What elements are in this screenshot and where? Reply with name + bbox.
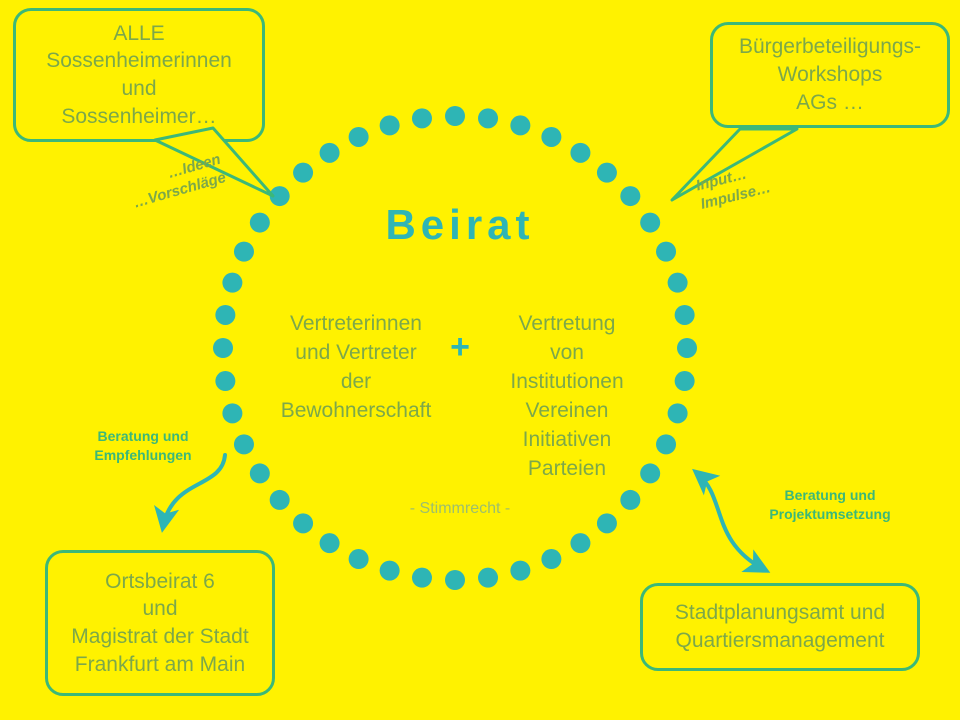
circle-dot: [250, 463, 270, 483]
page-title: Beirat: [330, 201, 590, 249]
circle-dot: [215, 371, 235, 391]
circle-dot: [293, 163, 313, 183]
circle-dot: [412, 568, 432, 588]
circle-dot: [478, 108, 498, 128]
circle-dot: [222, 403, 242, 423]
bubble-workshops-text: Bürgerbeteiligungs-WorkshopsAGs …: [713, 33, 947, 116]
circle-dot: [380, 115, 400, 135]
circle-dot: [222, 273, 242, 293]
circle-dot: [445, 106, 465, 126]
annotation-input: Input…Impulse…: [694, 160, 773, 215]
circle-dot: [215, 305, 235, 325]
box-ortsbeirat-text: Ortsbeirat 6undMagistrat der StadtFrankf…: [48, 568, 272, 679]
circle-dot: [656, 434, 676, 454]
circle-dot: [293, 513, 313, 533]
members-institutions-text: VertretungvonInstitutionenVereinenInitia…: [478, 310, 656, 484]
circle-dot: [510, 561, 530, 581]
circle-dot: [675, 305, 695, 325]
circle-dot: [620, 490, 640, 510]
annotation-ideen: …Ideen…Vorschläge: [126, 150, 228, 213]
diagram-canvas: ALLESossenheimerinnenundSossenheimer… Bü…: [0, 0, 960, 720]
circle-dot: [320, 143, 340, 163]
circle-dot: [349, 549, 369, 569]
bubble-workshops: Bürgerbeteiligungs-WorkshopsAGs …: [710, 22, 950, 128]
plus-icon: +: [440, 330, 480, 364]
circle-dot: [213, 338, 233, 358]
circle-dot: [250, 213, 270, 233]
arrow-to-ortsbeirat-icon: [163, 455, 225, 527]
circle-dot: [349, 127, 369, 147]
circle-dot: [412, 108, 432, 128]
caption-beratung-projektumsetzung: Beratung undProjektumsetzung: [740, 486, 920, 524]
circle-dot: [478, 568, 498, 588]
circle-dot: [668, 403, 688, 423]
circle-dot: [597, 163, 617, 183]
bubble-citizens-text: ALLESossenheimerinnenundSossenheimer…: [16, 20, 262, 131]
voting-rights-note: - Stimmrecht -: [375, 500, 545, 518]
circle-dot: [270, 186, 290, 206]
circle-dot: [570, 143, 590, 163]
circle-dot: [270, 490, 290, 510]
circle-dot: [677, 338, 697, 358]
circle-dot: [541, 127, 561, 147]
circle-dot: [620, 186, 640, 206]
circle-dot: [675, 371, 695, 391]
box-stadtplanung-text: Stadtplanungsamt undQuartiersmanagement: [643, 599, 917, 654]
circle-dot: [445, 570, 465, 590]
circle-dot: [234, 242, 254, 262]
circle-dot: [510, 115, 530, 135]
circle-dot: [320, 533, 340, 553]
circle-dot: [640, 213, 660, 233]
circle-dot: [656, 242, 676, 262]
circle-dot: [668, 273, 688, 293]
circle-dot: [570, 533, 590, 553]
caption-beratung-empfehlungen: Beratung undEmpfehlungen: [68, 427, 218, 465]
box-stadtplanung: Stadtplanungsamt undQuartiersmanagement: [640, 583, 920, 671]
circle-dot: [597, 513, 617, 533]
members-residents-text: Vertreterinnenund VertreterderBewohnersc…: [266, 310, 446, 426]
box-ortsbeirat: Ortsbeirat 6undMagistrat der StadtFrankf…: [45, 550, 275, 696]
circle-dot: [234, 434, 254, 454]
circle-dot: [380, 561, 400, 581]
circle-dot: [541, 549, 561, 569]
bubble-citizens: ALLESossenheimerinnenundSossenheimer…: [13, 8, 265, 142]
